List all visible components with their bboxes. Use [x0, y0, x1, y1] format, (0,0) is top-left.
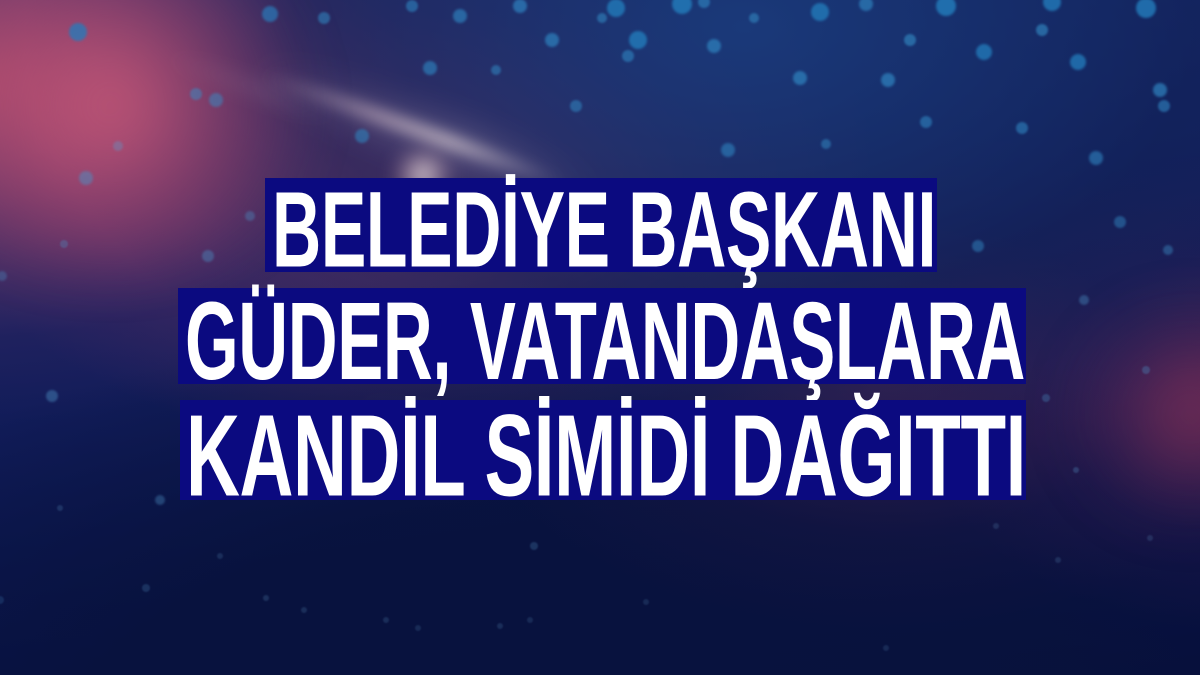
- headline-line-2-text: GÜDER, VATANDAŞLARA: [185, 286, 1025, 396]
- headline-line-3-text: KANDİL SİMİDİ DAĞITTI: [186, 398, 1026, 514]
- headline-line-1-text: BELEDİYE BAŞKANI: [272, 176, 936, 284]
- news-thumbnail-card: BELEDİYE BAŞKANI GÜDER, VATANDAŞLARA KAN…: [0, 0, 1200, 675]
- headline-block: BELEDİYE BAŞKANI GÜDER, VATANDAŞLARA KAN…: [0, 0, 1200, 675]
